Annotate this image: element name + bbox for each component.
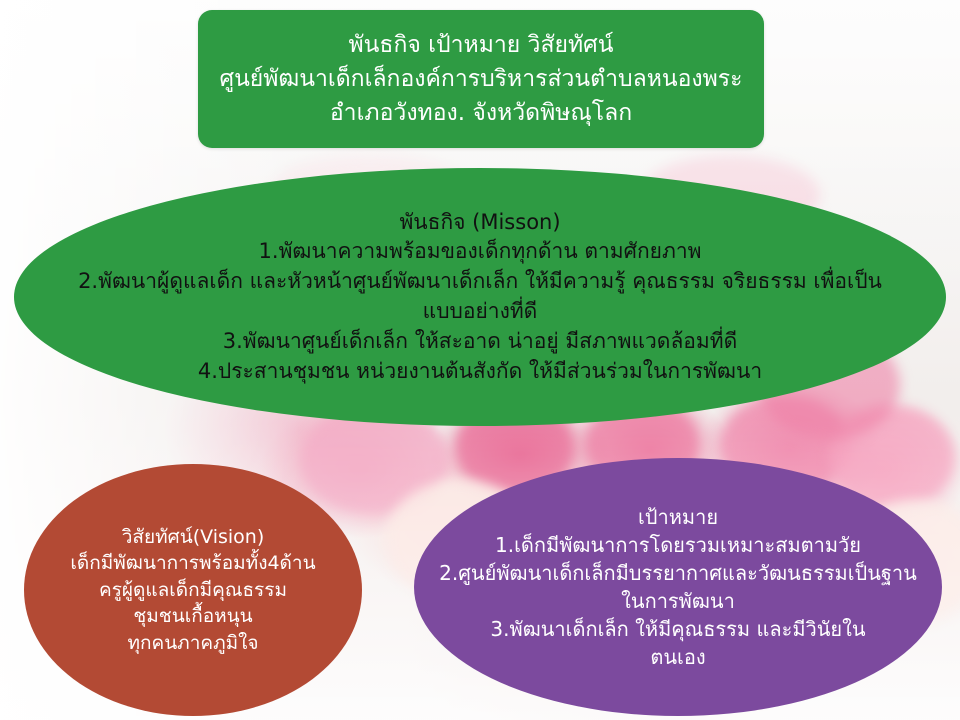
vision-ellipse-text: วิสัยทัศน์(Vision) เด็กมีพัฒนาการพร้อมทั… (24, 524, 362, 657)
vision-ellipse: วิสัยทัศน์(Vision) เด็กมีพัฒนาการพร้อมทั… (24, 464, 362, 716)
goals-ellipse-text: เป้าหมาย 1.เด็กมีพัฒนาการโดยรวมเหมาะสมตา… (414, 503, 942, 671)
header-banner-text: พันธกิจ เป้าหมาย วิสัยทัศน์ ศูนย์พัฒนาเด… (205, 28, 756, 130)
mission-ellipse: พันธกิจ (Misson) 1.พัฒนาความพร้อมของเด็ก… (14, 168, 946, 426)
mission-ellipse-text: พันธกิจ (Misson) 1.พัฒนาความพร้อมของเด็ก… (14, 208, 946, 387)
header-banner: พันธกิจ เป้าหมาย วิสัยทัศน์ ศูนย์พัฒนาเด… (198, 10, 764, 148)
goals-ellipse: เป้าหมาย 1.เด็กมีพัฒนาการโดยรวมเหมาะสมตา… (414, 458, 942, 716)
slide-canvas: พันธกิจ เป้าหมาย วิสัยทัศน์ ศูนย์พัฒนาเด… (0, 0, 960, 720)
